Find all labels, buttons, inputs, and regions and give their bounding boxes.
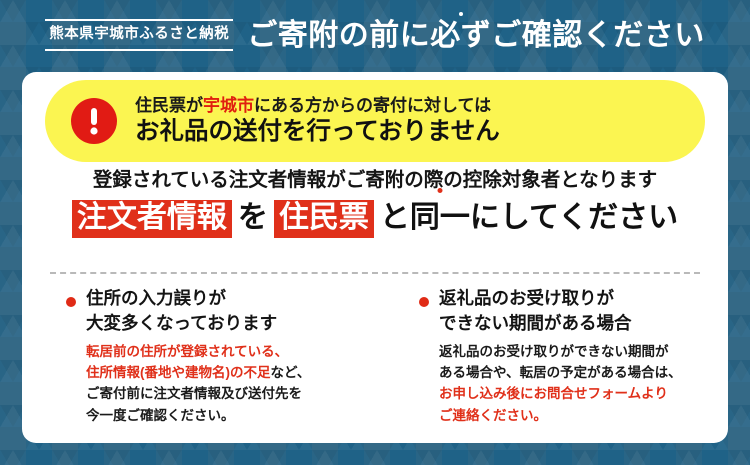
note-detail-line: お申し込み後にお問合せフォームより (439, 383, 718, 404)
notes-columns: 住所の入力誤りが 大変多くなっております 転居前の住所が登録されている、 住所情… (22, 286, 728, 426)
note-detail-text: ご寄付前に注文者情報及び送付先を (86, 386, 302, 401)
statement-tail-a: と (380, 199, 410, 237)
note-heading-line-1: 住所の入力誤りが (86, 286, 365, 311)
statement-tail-b: にしてください (470, 199, 678, 237)
note-detail-line: ご寄付前に注文者情報及び送付先を (86, 383, 365, 404)
alert-line1-prefix: 住民票が (135, 96, 203, 115)
note-detail-text: ご連絡ください。 (439, 408, 547, 423)
note-column-address: 住所の入力誤りが 大変多くなっております 転居前の住所が登録されている、 住所情… (22, 286, 375, 426)
exclamation-icon (71, 98, 117, 144)
page-title-emphasis: 必ず (430, 21, 491, 51)
statement-connector: を (238, 199, 268, 237)
banner-header: 熊本県宇城市ふるさと納税 ご寄附の前に必ずご確認ください (0, 0, 750, 72)
note-detail-line: 住所情報(番地や建物名)の不足など、 (86, 362, 365, 383)
statement-block: 登録されている注文者情報がご寄附の際の控除対象者となります 注文者情報を住民票と… (22, 168, 728, 238)
brand-label: 熊本県宇城市ふるさと納税 (45, 21, 233, 49)
statement-line-2: 注文者情報を住民票と同一にしてください (22, 199, 728, 238)
note-heading-line-1: 返礼品のお受け取りが (439, 286, 718, 311)
page-title-part1: ご寄附の前に (247, 21, 430, 51)
note-heading-line-2: できない期間がある場合 (439, 311, 718, 336)
note-detail: 転居前の住所が登録されている、 住所情報(番地や建物名)の不足など、 ご寄付前に… (86, 341, 365, 426)
note-body: 住所の入力誤りが 大変多くなっております 転居前の住所が登録されている、 住所情… (86, 286, 365, 426)
brand-block: 熊本県宇城市ふるさと納税 (45, 19, 233, 53)
alert-city-highlight: 宇城市 (203, 96, 254, 115)
note-detail-line: ご連絡ください。 (439, 405, 718, 426)
note-detail-line: 今一度ご確認ください。 (86, 405, 365, 426)
alert-line-1: 住民票が宇城市にある方からの寄付に対しては (135, 95, 500, 116)
note-detail-line: 返礼品のお受け取りができない期間が (439, 341, 718, 362)
note-heading-line-2: 大変多くなっております (86, 311, 365, 336)
bullet-dot-icon (66, 297, 76, 307)
alert-line-2: お礼品の送付を行っておりません (135, 117, 500, 146)
note-detail-text: お申し込み後にお問合せフォームより (439, 386, 668, 401)
brand-rule-bottom (45, 49, 233, 51)
note-detail-text: ある場合や、転居の予定がある場合は、 (439, 365, 682, 380)
tag-residence-certificate: 住民票 (274, 200, 374, 238)
note-detail-text: 今一度ご確認ください。 (86, 408, 235, 423)
note-column-delivery: 返礼品のお受け取りが できない期間がある場合 返礼品のお受け取りができない期間が… (375, 286, 728, 426)
note-body: 返礼品のお受け取りが できない期間がある場合 返礼品のお受け取りができない期間が… (439, 286, 718, 426)
page-title: ご寄附の前に必ずご確認ください (247, 21, 705, 51)
alert-banner: 住民票が宇城市にある方からの寄付に対しては お礼品の送付を行っておりません (45, 80, 705, 162)
page-title-part2: ご確認ください (491, 21, 705, 51)
content-card: 住民票が宇城市にある方からの寄付に対しては お礼品の送付を行っておりません 登録… (22, 72, 728, 443)
alert-line1-suffix: にある方からの寄付に対しては (254, 96, 491, 115)
note-detail-text: 返礼品のお受け取りができない期間が (439, 344, 669, 359)
note-detail-line: 転居前の住所が登録されている、 (86, 341, 365, 362)
tag-orderer-info: 注文者情報 (72, 200, 232, 238)
note-detail-line: ある場合や、転居の予定がある場合は、 (439, 362, 718, 383)
alert-text: 住民票が宇城市にある方からの寄付に対しては お礼品の送付を行っておりません (135, 95, 500, 147)
note-detail-text: 転居前の住所が登録されている、 (86, 344, 288, 359)
note-detail-suffix: など、 (271, 365, 311, 380)
note-detail-text: 住所情報(番地や建物名)の不足 (86, 365, 271, 380)
statement-tail-emphasis: 同一 (410, 199, 470, 237)
notice-banner: 熊本県宇城市ふるさと納税 ご寄附の前に必ずご確認ください 住民票が宇城市にある方… (0, 0, 750, 465)
section-divider (50, 272, 700, 274)
note-detail: 返礼品のお受け取りができない期間が ある場合や、転居の予定がある場合は、 お申し… (439, 341, 718, 426)
bullet-dot-icon (419, 297, 429, 307)
statement-line-1: 登録されている注文者情報がご寄附の際の控除対象者となります (22, 168, 728, 193)
